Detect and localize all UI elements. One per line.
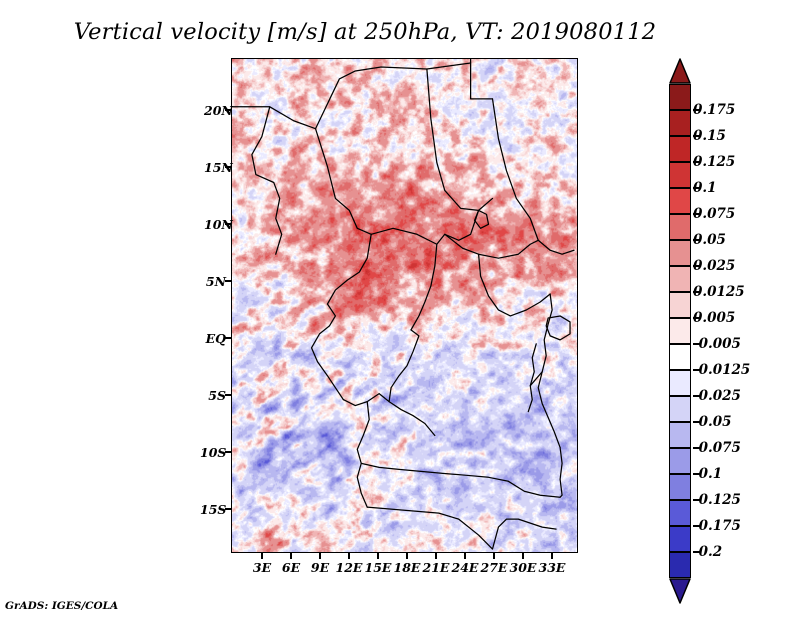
attribution-text: GrADS: IGES/COLA [5,600,118,612]
colorbar-band [669,188,691,214]
lon-tick-21E [435,553,437,559]
lon-label-9E: 9E [307,560,333,575]
colorbar-band [669,292,691,318]
colorbar-label: -0.2 [693,544,722,560]
colorbar-label: 0.05 [693,232,726,248]
colorbar-band [669,84,691,110]
lon-tick-15E [377,553,379,559]
lat-tick-15N [225,166,231,168]
colorbar-label: -0.05 [693,414,731,430]
colorbar-label: -0.125 [693,492,741,508]
lon-label-33E: 33E [537,560,567,575]
lat-label-15N: 15N [204,160,226,175]
lat-tick-10S [225,451,231,453]
colorbar-band [669,344,691,370]
colorbar-extend-high-arrow [669,58,691,84]
lon-tick-3E [261,553,263,559]
lat-label-10S: 10S [200,445,226,460]
lat-label-5N: 5N [204,274,226,289]
lat-tick-5N [225,280,231,282]
colorbar-label: -0.175 [693,518,741,534]
lat-tick-5S [225,394,231,396]
lon-label-15E: 15E [363,560,393,575]
lon-tick-33E [551,553,553,559]
lon-tick-9E [319,553,321,559]
lat-tick-10N [225,223,231,225]
colorbar-band [669,422,691,448]
chart-title: Vertical velocity [m/s] at 250hPa, VT: 2… [0,19,730,45]
colorbar-extend-low-arrow [669,578,691,604]
colorbar-band [669,110,691,136]
lon-tick-30E [522,553,524,559]
colorbar-label: 0.125 [693,154,735,170]
colorbar-label: 0.15 [693,128,726,144]
colorbar-label: -0.025 [693,388,741,404]
lon-tick-24E [464,553,466,559]
colorbar-band [669,240,691,266]
lat-tick-15S [225,508,231,510]
colorbar-label: 0.075 [693,206,735,222]
colorbar-band [669,370,691,396]
colorbar-band [669,448,691,474]
lon-tick-27E [493,553,495,559]
lat-label-15S: 15S [200,502,226,517]
colorbar-band [669,552,691,578]
colorbar-band [669,318,691,344]
colorbar-band [669,136,691,162]
lon-label-3E: 3E [249,560,275,575]
colorbar-band [669,500,691,526]
lon-label-6E: 6E [278,560,304,575]
colorbar-label: -0.075 [693,440,741,456]
colorbar-label: 0.005 [693,310,735,326]
map-plot-area [231,58,578,553]
lat-tick-20N [225,109,231,111]
lon-tick-18E [406,553,408,559]
lat-label-10N: 10N [204,217,226,232]
lon-tick-12E [348,553,350,559]
lat-tick-EQ [225,337,231,339]
vertical-velocity-heatmap [232,59,577,552]
colorbar-band [669,162,691,188]
colorbar-label: -0.005 [693,336,741,352]
colorbar-band [669,474,691,500]
lat-label-5S: 5S [204,388,226,403]
colorbar [669,58,691,553]
colorbar-band [669,396,691,422]
lon-label-27E: 27E [479,560,509,575]
colorbar-label: 0.025 [693,258,735,274]
chart-container: Vertical velocity [m/s] at 250hPa, VT: 2… [0,0,800,618]
lat-label-20N: 20N [204,103,226,118]
colorbar-label: 0.1 [693,180,717,196]
colorbar-band [669,526,691,552]
colorbar-band [669,266,691,292]
lon-label-24E: 24E [450,560,480,575]
colorbar-label: 0.175 [693,102,735,118]
colorbar-label: -0.0125 [693,362,750,378]
lon-label-21E: 21E [421,560,451,575]
lon-label-12E: 12E [334,560,364,575]
lon-label-30E: 30E [508,560,538,575]
lat-label-EQ: EQ [204,331,226,346]
colorbar-band [669,214,691,240]
colorbar-label: 0.0125 [693,284,745,300]
lon-label-18E: 18E [392,560,422,575]
colorbar-label: -0.1 [693,466,722,482]
lon-tick-6E [290,553,292,559]
